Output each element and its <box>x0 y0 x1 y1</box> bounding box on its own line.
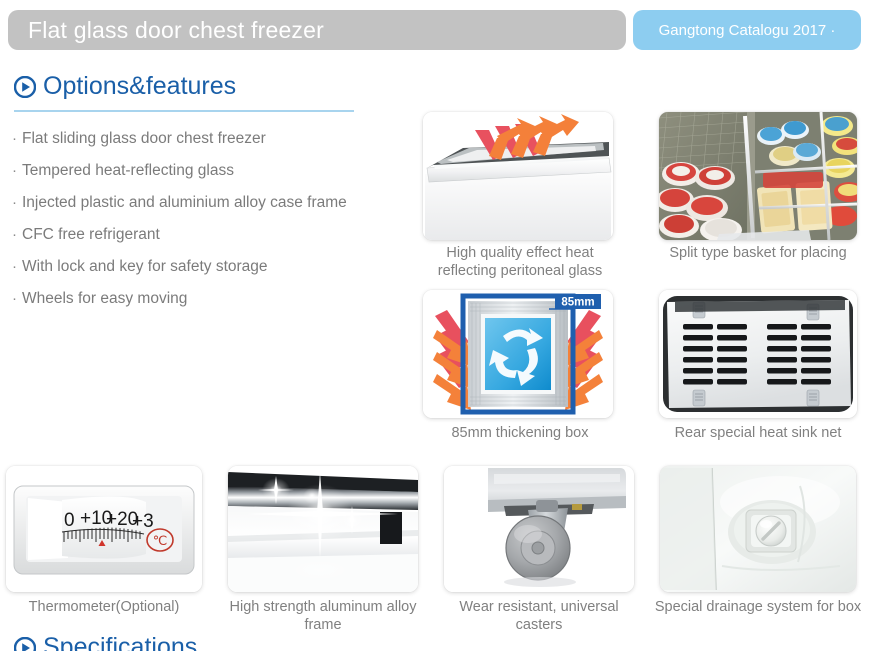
caption-thermometer: Thermometer(Optional) <box>0 598 208 616</box>
page-header-bar: Flat glass door chest freezer <box>8 10 626 50</box>
section-heading-specifications: Specifications <box>14 633 197 651</box>
aluminium-frame-photo-icon <box>228 466 418 592</box>
bullet-glyph: · <box>12 257 22 277</box>
svg-text:0: 0 <box>64 510 75 531</box>
play-circle-icon <box>14 76 36 98</box>
caption-glass: High quality effect heat reflecting peri… <box>415 244 625 280</box>
feature-card-basket <box>659 112 857 240</box>
caption-thickening-box: 85mm thickening box <box>415 424 625 442</box>
rear-vent-panel-photo-icon <box>659 290 857 418</box>
bullet-glyph: · <box>12 289 22 309</box>
svg-text:℃: ℃ <box>153 533 168 548</box>
bullet-glyph: · <box>12 129 22 149</box>
insulated-box-circulation-arrows-icon: 85mm <box>423 290 613 418</box>
catalog-page: Flat glass door chest freezer Gangtong C… <box>0 0 869 651</box>
caption-drainage: Special drainage system for box <box>654 598 862 616</box>
caption-heat-sink: Rear special heat sink net <box>650 424 866 442</box>
list-item-label: With lock and key for safety storage <box>22 257 412 277</box>
list-item: · Flat sliding glass door chest freezer <box>12 129 412 149</box>
svg-text:85mm: 85mm <box>561 297 594 309</box>
feature-card-glass <box>423 112 613 240</box>
list-item: · Wheels for easy moving <box>12 289 412 309</box>
features-list: · Flat sliding glass door chest freezer … <box>12 129 412 321</box>
play-circle-icon <box>14 637 36 651</box>
list-item: · Injected plastic and aluminium alloy c… <box>12 193 412 213</box>
feature-card-heat-sink <box>659 290 857 418</box>
feature-card-thickening-box: 85mm <box>423 290 613 418</box>
list-item: · CFC free refrigerant <box>12 225 412 245</box>
list-item-label: Injected plastic and aluminium alloy cas… <box>22 193 412 213</box>
freezer-baskets-photo-icon <box>659 112 857 240</box>
list-item-label: CFC free refrigerant <box>22 225 412 245</box>
section-title-options: Options&features <box>43 72 236 101</box>
page-title: Flat glass door chest freezer <box>8 17 324 44</box>
list-item: · With lock and key for safety storage <box>12 257 412 277</box>
feature-card-thermometer: 0 +10 +20 +3 ℃ <box>6 466 202 592</box>
feature-card-drainage <box>660 466 856 592</box>
svg-text:+3: +3 <box>132 511 154 532</box>
drain-plug-photo-icon <box>660 466 856 592</box>
bullet-glyph: · <box>12 225 22 245</box>
list-item-label: Wheels for easy moving <box>22 289 412 309</box>
catalog-badge: Gangtong Catalogu 2017 · <box>633 10 861 50</box>
caption-basket: Split type basket for placing <box>655 244 861 262</box>
list-item-label: Flat sliding glass door chest freezer <box>22 129 412 149</box>
glass-top-reflecting-arrows-icon <box>423 112 613 240</box>
feature-card-frame <box>228 466 418 592</box>
section-title-specifications: Specifications <box>43 633 197 651</box>
catalog-badge-label: Gangtong Catalogu 2017 · <box>659 22 836 39</box>
caster-wheel-photo-icon <box>444 466 634 592</box>
list-item: · Tempered heat-reflecting glass <box>12 161 412 181</box>
bullet-glyph: · <box>12 161 22 181</box>
specifications-section-clip: Specifications <box>0 628 869 651</box>
feature-card-caster <box>444 466 634 592</box>
dimension-label-85mm: 85mm <box>549 294 601 309</box>
bullet-glyph: · <box>12 193 22 213</box>
section-divider <box>14 110 354 112</box>
list-item-label: Tempered heat-reflecting glass <box>22 161 412 181</box>
section-heading-options: Options&features <box>14 72 236 101</box>
analog-thermometer-gauge-icon: 0 +10 +20 +3 ℃ <box>6 466 202 592</box>
